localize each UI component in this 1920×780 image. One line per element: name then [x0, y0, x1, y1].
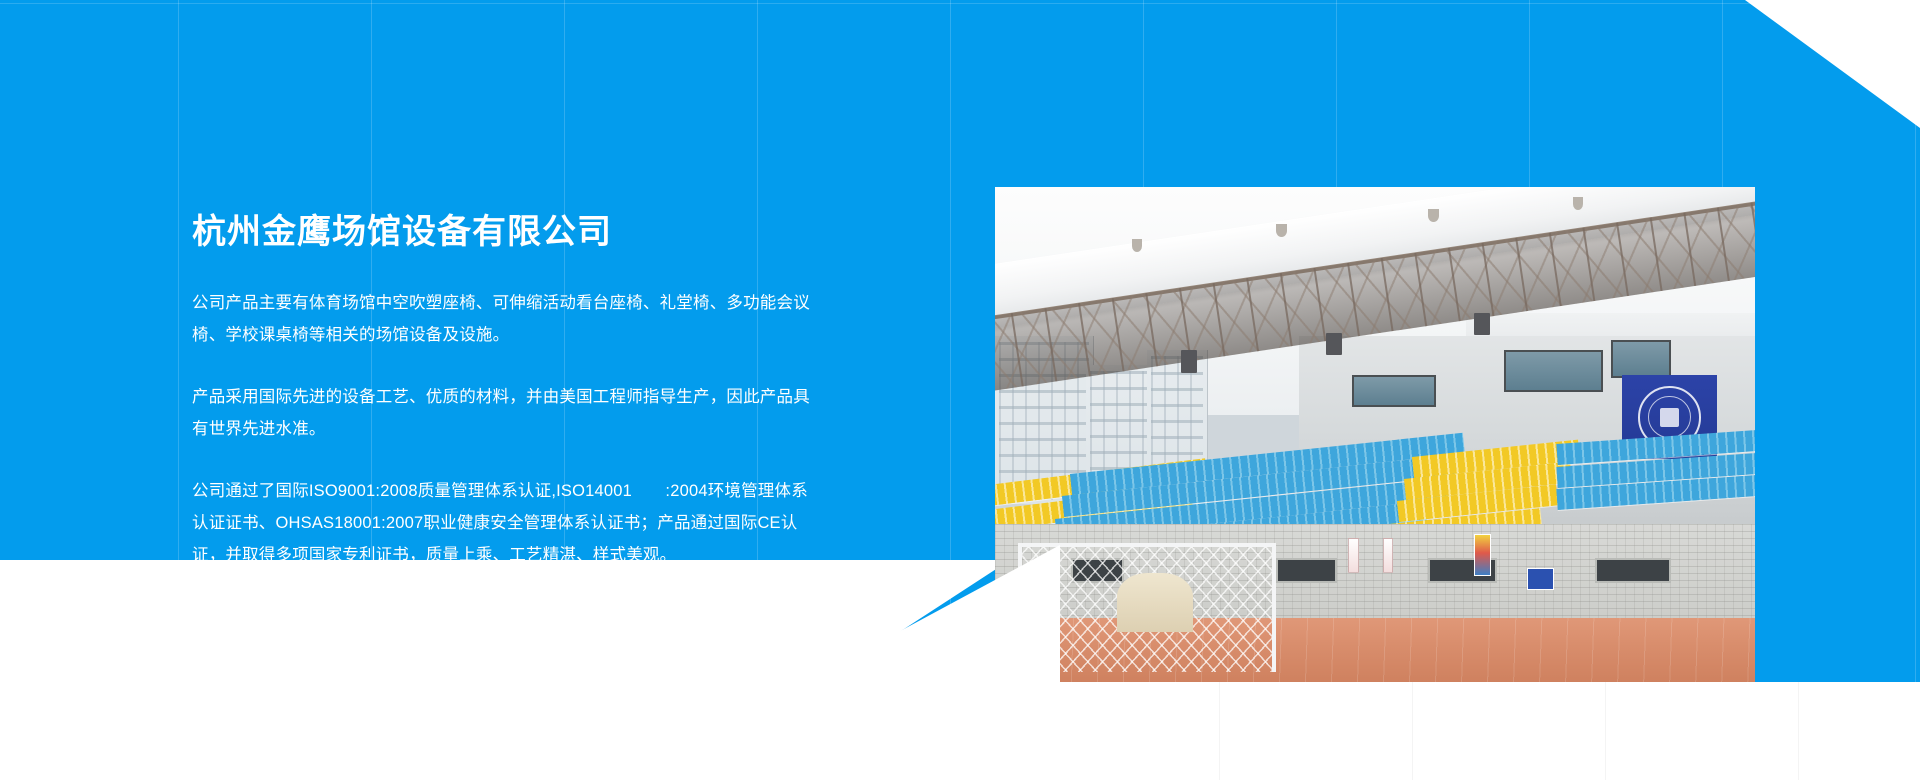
speaker-box-icon	[1326, 333, 1342, 355]
wall-poster	[1383, 538, 1394, 573]
company-paragraph-certifications: 公司通过了国际ISO9001:2008质量管理体系认证,ISO14001 :20…	[192, 475, 812, 571]
wall-window	[1595, 558, 1671, 583]
goal-tent	[1117, 573, 1193, 632]
speaker-box-icon	[1474, 313, 1490, 335]
wall-poster-color	[1474, 534, 1491, 576]
bottom-grid-overlay	[1010, 682, 1920, 780]
wall-sign-blue	[1527, 568, 1554, 590]
company-intro-banner: 杭州金鹰场馆设备有限公司 公司产品主要有体育场馆中空吹塑座椅、可伸缩活动看台座椅…	[0, 0, 1920, 780]
speaker-box-icon	[1181, 350, 1197, 372]
grid-vertical-line	[1605, 682, 1606, 780]
company-title: 杭州金鹰场馆设备有限公司	[192, 212, 832, 253]
floodlight-icon	[1573, 197, 1584, 210]
grid-vertical-line	[1412, 682, 1413, 780]
building-window	[1504, 350, 1603, 392]
floodlight-icon	[1276, 224, 1287, 237]
wall-window	[1276, 558, 1337, 583]
stadium-photo: 体育场看台照片	[995, 187, 1755, 682]
grid-vertical-line	[1219, 682, 1220, 780]
company-paragraph-products: 公司产品主要有体育场馆中空吹塑座椅、可伸缩活动看台座椅、礼堂椅、多功能会议椅、学…	[192, 287, 812, 351]
building-window	[1611, 340, 1672, 377]
company-paragraph-quality: 产品采用国际先进的设备工艺、优质的材料，并由美国工程师指导生产，因此产品具有世界…	[192, 381, 812, 445]
bottom-white-panel	[1010, 682, 1920, 780]
white-diagonal-notch	[820, 545, 1060, 780]
building-window	[1352, 375, 1436, 407]
grid-vertical-line	[1798, 682, 1799, 780]
floodlight-icon	[1428, 209, 1439, 222]
company-text-column: 杭州金鹰场馆设备有限公司 公司产品主要有体育场馆中空吹塑座椅、可伸缩活动看台座椅…	[192, 212, 832, 571]
wall-poster	[1348, 538, 1359, 573]
